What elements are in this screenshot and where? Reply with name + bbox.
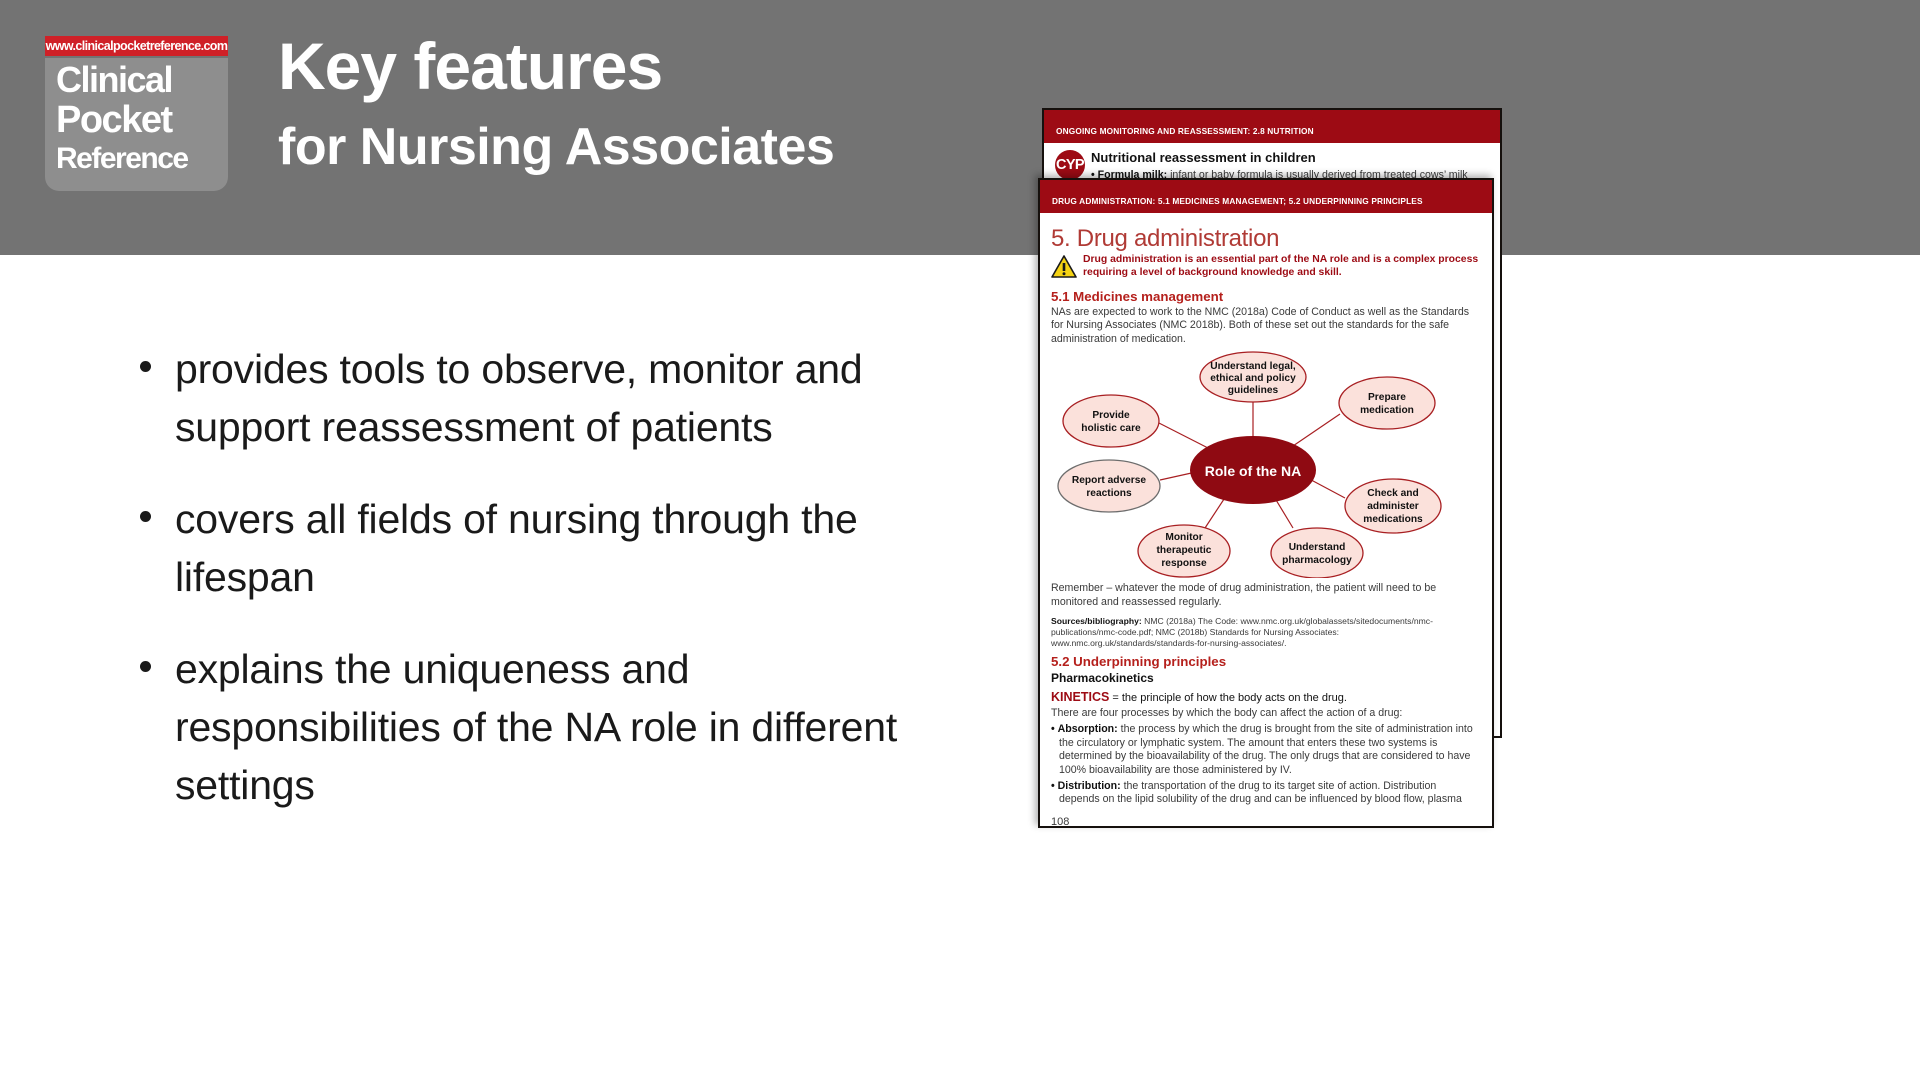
kinetics-label: KINETICS [1051,690,1109,704]
logo-website-url: www.clinicalpocketreference.com [45,36,228,56]
section-heading: Nutritional reassessment in children [1091,150,1487,166]
node-label-line: guidelines [1228,385,1279,396]
node-label-line: Provide [1092,410,1130,421]
warning-callout: Drug administration is an essential part… [1051,254,1479,284]
paragraph-kinetics-intro: There are four processes by which the bo… [1051,707,1479,720]
warning-text: Drug administration is an essential part… [1083,254,1479,279]
node-label-line: Understand legal, [1210,361,1296,372]
paragraph-distribution: Distribution: the transportation of the … [1051,780,1479,807]
heading-5-1: 5.1 Medicines management [1051,289,1479,304]
slide-header-band: www.clinicalpocketreference.com Clinical… [0,0,1920,255]
list-item-label: explains the uniqueness and responsibili… [175,640,960,814]
absorption-label: Absorption: [1058,723,1118,735]
cyp-badge-icon: CYP [1055,150,1085,180]
node-label-line: medication [1360,405,1414,416]
node-report-adverse [1058,460,1160,512]
node-label-line: Check and [1367,488,1419,499]
node-label-line: Understand [1289,542,1346,553]
kinetics-text: = the principle of how the body acts on … [1109,692,1347,704]
list-item: provides tools to observe, monitor and s… [140,340,960,456]
paragraph-absorption: Absorption: the process by which the dru… [1051,723,1479,777]
book-page-body: 5. Drug administration Drug administrati… [1040,213,1492,828]
node-label-line: medications [1363,514,1423,525]
node-label-line: pharmacology [1282,555,1352,566]
running-head: DRUG ADMINISTRATION: 5.1 MEDICINES MANAG… [1040,180,1492,213]
node-provide-holistic-care [1063,395,1159,447]
heading-pharmacokinetics: Pharmacokinetics [1051,671,1479,685]
node-prepare-medication [1339,377,1435,429]
paragraph-5-1: NAs are expected to work to the NMC (201… [1051,306,1479,346]
logo-line-reference: Reference [45,141,228,177]
bullet-dot-icon [140,361,151,372]
book-page-drug-administration: DRUG ADMINISTRATION: 5.1 MEDICINES MANAG… [1038,178,1494,828]
role-of-na-svg: Understand legal, ethical and policy gui… [1045,348,1465,578]
node-label-line: Report adverse [1072,475,1147,486]
logo-line-clinical: Clinical [45,60,228,100]
node-label-line: holistic care [1081,423,1141,434]
bullet-dot-icon [140,661,151,672]
page-title: Key features [278,28,1278,104]
node-label-line: reactions [1086,488,1132,499]
list-item-label: covers all fields of nursing through the… [175,490,960,606]
feature-bullet-list: provides tools to observe, monitor and s… [140,340,960,848]
distribution-label: Distribution: [1058,780,1121,792]
running-head: ONGOING MONITORING AND REASSESSMENT: 2.8… [1044,110,1500,143]
node-label-line: therapeutic [1157,545,1212,556]
brand-logo: www.clinicalpocketreference.com Clinical… [40,36,228,191]
slide-canvas: www.clinicalpocketreference.com Clinical… [0,0,1920,1080]
node-label-line: Monitor [1165,532,1202,543]
node-label-line: ethical and policy [1210,373,1296,384]
node-label-line: response [1161,558,1207,569]
logo-plate: Clinical Pocket Reference [45,58,228,191]
logo-line-pocket: Pocket [45,100,228,141]
node-label-line: administer [1367,501,1419,512]
list-item: explains the uniqueness and responsibili… [140,640,960,814]
node-center-label: Role of the NA [1205,463,1301,479]
kinetics-definition: KINETICS = the principle of how the body… [1051,690,1479,705]
sources-label: Sources/bibliography: [1051,616,1142,626]
heading-5-2: 5.2 Underpinning principles [1051,654,1479,669]
node-label-line: Prepare [1368,392,1406,403]
page-number: 108 [1051,816,1479,828]
node-understand-pharmacology [1271,528,1363,578]
list-item-label: provides tools to observe, monitor and s… [175,340,960,456]
role-of-na-diagram: Understand legal, ethical and policy gui… [1045,348,1465,578]
sources-bibliography: Sources/bibliography: NMC (2018a) The Co… [1051,616,1479,649]
warning-triangle-icon [1051,255,1077,284]
list-item: covers all fields of nursing through the… [140,490,960,606]
absorption-text: the process by which the drug is brought… [1059,723,1473,775]
bullet-dot-icon [140,511,151,522]
chapter-title: 5. Drug administration [1051,225,1479,253]
paragraph-remember: Remember – whatever the mode of drug adm… [1051,582,1479,609]
